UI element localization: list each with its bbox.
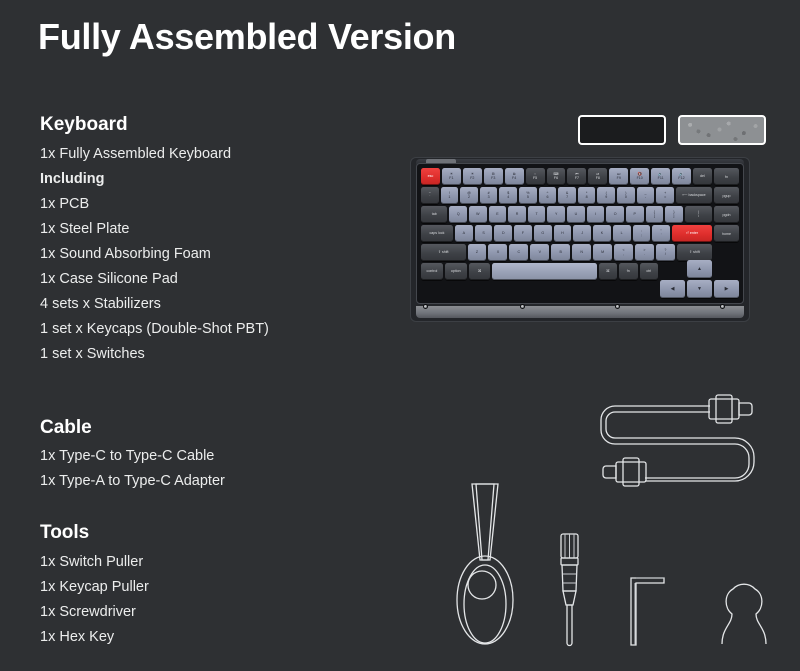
keycap-label: : ; (641, 230, 642, 238)
keycap-label: Y (555, 213, 557, 217)
keycap[interactable]: D (494, 225, 512, 242)
keycap-label: + = (664, 192, 666, 200)
keycap[interactable]: C (509, 244, 528, 261)
keycap[interactable]: _ - (637, 187, 655, 204)
keycap[interactable]: ~ ` (421, 187, 439, 204)
keycap[interactable]: I (587, 206, 605, 223)
keycap[interactable]: : ; (633, 225, 651, 242)
keycap[interactable]: ⧉ F4 (505, 168, 524, 185)
keycap[interactable]: N (572, 244, 591, 261)
keycap[interactable]: M (593, 244, 612, 261)
keycap[interactable]: ⏮ F7 (567, 168, 586, 185)
arrow-down-key[interactable]: ▼ (687, 280, 712, 298)
keycap-label: ⏎ enter (686, 232, 698, 236)
keycap-label: G (541, 232, 544, 236)
keycap-label: E (496, 213, 498, 217)
keycap-label: option (451, 270, 461, 274)
arrow-left-key[interactable]: ◀ (660, 280, 685, 298)
keycap[interactable]: ( 9 (597, 187, 615, 204)
keycap[interactable]: A (455, 225, 473, 242)
spec-item: 1x Type-C to Type-C Cable (40, 444, 370, 469)
keycap-label: U (575, 213, 578, 217)
keycap-label: ⇧ shift (689, 251, 700, 255)
spec-item: 1x Switch Puller (40, 550, 370, 575)
keycap-label: fn (627, 270, 630, 274)
keycap[interactable]: tab (421, 206, 447, 223)
keycap-label: del (700, 175, 705, 179)
keyboard-row-tab: tabQWERTYUIOP{ [} ]| \ (421, 206, 712, 223)
spec-item: 1x Screwdriver (40, 600, 370, 625)
keycap-label: ⇧ shift (438, 251, 449, 255)
spec-item: 1x Hex Key (40, 625, 370, 650)
spec-item: 1 set x Switches (40, 342, 370, 367)
case-screw (423, 304, 428, 309)
keycap-label: S (482, 232, 484, 236)
keycap[interactable]: U (567, 206, 585, 223)
keycap[interactable]: Q (449, 206, 467, 223)
keycap[interactable]: ◌ F5 (526, 168, 545, 185)
keycap[interactable]: ? / (656, 244, 675, 261)
keycap-label: ⏯ F8 (596, 173, 600, 181)
keycap[interactable]: ⇧ shift (677, 244, 712, 261)
side-key[interactable]: fn (714, 168, 739, 185)
keycap-label: H (561, 232, 564, 236)
arrow-right-key[interactable]: ▶ (714, 280, 739, 298)
keycap[interactable]: ⌘ (469, 263, 491, 280)
keycap[interactable]: P (626, 206, 644, 223)
keycap-label: Z (476, 251, 478, 255)
keycap-label: $ 4 (507, 192, 509, 200)
keycap-label: R (516, 213, 519, 217)
keycap-label: O (614, 213, 617, 217)
spec-item: 1 set x Keycaps (Double-Shot PBT) (40, 317, 370, 342)
switch-puller-illustration (457, 484, 513, 644)
keycap[interactable]: ! 1 (441, 187, 459, 204)
case-screw (720, 304, 725, 309)
section-heading-tools: Tools (40, 520, 370, 546)
keycap-label: # 3 (488, 192, 490, 200)
keycap[interactable]: ⌘ (599, 263, 617, 280)
keycap[interactable]: # 3 (480, 187, 498, 204)
spec-item: 1x Steel Plate (40, 217, 370, 242)
keyboard-base-plate (416, 306, 744, 318)
spec-item: 1x Keycap Puller (40, 575, 370, 600)
tools-illustrations (450, 482, 770, 662)
black-swatch (578, 115, 666, 145)
keycap[interactable]: ⟵ backspace (676, 187, 712, 204)
keycap[interactable]: B (551, 244, 570, 261)
spec-sheet-page: Fully Assembled Version Keyboard 1x Full… (0, 0, 800, 671)
keycap[interactable]: J (573, 225, 591, 242)
keycap-grid: esc☀ F1☀ F2⊞ F3⧉ F4◌ F5⌨ F6⏮ F7⏯ F8⏭ F9🔇… (421, 168, 739, 299)
section-heading-keyboard: Keyboard (40, 112, 370, 138)
keycap-label: } ] (673, 211, 674, 219)
side-key[interactable]: home (714, 225, 739, 242)
keycap[interactable]: ctrl (640, 263, 658, 280)
keycap-label: 🔉 F11 (658, 173, 664, 181)
keycap-label: N (580, 251, 583, 255)
keycap[interactable]: ⊞ F3 (484, 168, 503, 185)
keycap-label: > . (643, 249, 645, 257)
keycap-label: ⏭ F9 (617, 173, 621, 181)
keycap-label: ! 1 (448, 192, 450, 200)
keycap-puller-illustration (722, 584, 766, 644)
keycap[interactable]: control (421, 263, 443, 280)
keycap[interactable]: 🔇 F10 (630, 168, 649, 185)
keycap-label: ☀ F1 (449, 173, 453, 181)
keycap-label: { [ (654, 211, 655, 219)
keyboard-row-home: caps lockASDFGHJKL: ;" '⏎ enter (421, 225, 712, 242)
side-key[interactable]: pgup (714, 187, 739, 204)
section-heading-cable: Cable (40, 415, 370, 441)
keycap-label: * 8 (586, 192, 588, 200)
arrow-key-cluster: ▲ ◀ ▼ ▶ (660, 260, 739, 299)
keycap-label: F (522, 232, 524, 236)
keycap[interactable]: Z (468, 244, 487, 261)
keycap[interactable]: W (469, 206, 487, 223)
keycap[interactable]: * 8 (578, 187, 596, 204)
keycap[interactable]: { [ (646, 206, 664, 223)
keycap-label: 🔊 F12 (678, 173, 684, 181)
keycap[interactable]: option (445, 263, 467, 280)
keycap-label: D (502, 232, 505, 236)
keycap[interactable]: F (514, 225, 532, 242)
keycap-label: J (581, 232, 583, 236)
case-screw (520, 304, 525, 309)
keycap[interactable]: & 7 (558, 187, 576, 204)
section-tools: Tools 1x Switch Puller 1x Keycap Puller … (40, 520, 370, 650)
page-title: Fully Assembled Version (38, 16, 456, 58)
keycap[interactable]: S (475, 225, 493, 242)
keycap-label: " ' (661, 230, 662, 238)
keycap[interactable]: V (530, 244, 549, 261)
keyboard-row-bottom: controloption⌘⌘fnctrl (421, 263, 658, 280)
keycap-label: tab (432, 213, 437, 217)
specifications-column: Keyboard 1x Fully Assembled Keyboard Inc… (40, 112, 370, 650)
keycap[interactable]: fn (619, 263, 637, 280)
keycap-label: V (539, 251, 541, 255)
keycap-label: ) 0 (625, 192, 627, 200)
keyboard-row-shift: ⇧ shiftZXCVBNM< ,> .? /⇧ shift (421, 244, 712, 261)
keycap-label: ◌ F5 (533, 173, 537, 181)
color-swatches (578, 115, 766, 145)
keycap[interactable]: 🔉 F11 (651, 168, 670, 185)
keycap-label: ⊞ F3 (491, 173, 495, 181)
keycap[interactable]: X (488, 244, 507, 261)
keycap-label: @ 2 (467, 192, 471, 200)
keycap[interactable]: < , (614, 244, 633, 261)
keycap[interactable]: + = (656, 187, 674, 204)
keycap[interactable]: % 5 (519, 187, 537, 204)
keycap-label: ⌘ (478, 270, 482, 274)
keycap[interactable]: ⏭ F9 (609, 168, 628, 185)
keycap-label: ? / (664, 249, 666, 257)
keycap[interactable]: H (554, 225, 572, 242)
keycap-label: C (518, 251, 521, 255)
keyboard-row-function: esc☀ F1☀ F2⊞ F3⧉ F4◌ F5⌨ F6⏮ F7⏯ F8⏭ F9🔇… (421, 168, 712, 185)
side-key[interactable]: pgdn (714, 206, 739, 223)
keycap[interactable]: @ 2 (460, 187, 478, 204)
keycap[interactable]: ^ 6 (539, 187, 557, 204)
keycap[interactable]: ⇧ shift (421, 244, 466, 261)
keycap-label: caps lock (429, 232, 444, 236)
keycap-label: 🔇 F10 (637, 173, 643, 181)
keycap[interactable]: ⏯ F8 (588, 168, 607, 185)
keycap[interactable]: L (613, 225, 631, 242)
screwdriver-illustration (561, 534, 578, 646)
keycap-label: ⧉ F4 (512, 173, 516, 181)
spec-item: 1x PCB (40, 192, 370, 217)
keycap-label: % 5 (526, 192, 529, 200)
keycap-label: K (601, 232, 603, 236)
keycap-label: Q (457, 213, 460, 217)
keycap-label: ☀ F2 (470, 173, 474, 181)
keycap[interactable]: ) 0 (617, 187, 635, 204)
keycap[interactable]: Y (547, 206, 565, 223)
keycap-label: & 7 (566, 192, 568, 200)
spec-item: 1x Type-A to Type-C Adapter (40, 469, 370, 494)
keycap-label: ( 9 (605, 192, 607, 200)
spec-item-including: Including (40, 167, 370, 192)
keycap[interactable]: $ 4 (499, 187, 517, 204)
usb-c-cable-illustration (585, 392, 770, 487)
keycap-label: ⌨ F6 (553, 173, 558, 181)
keycap[interactable]: 🔊 F12 (672, 168, 691, 185)
keycap-label: T (536, 213, 538, 217)
keycap-label: P (633, 213, 635, 217)
keycap-label: ⌘ (606, 270, 610, 274)
keycap[interactable] (492, 263, 596, 280)
keycap[interactable]: G (534, 225, 552, 242)
keycap-label: W (476, 213, 479, 217)
keycap-label: < , (622, 249, 624, 257)
keycap-label: M (601, 251, 604, 255)
keycap-label: L (621, 232, 623, 236)
spec-item: 1x Sound Absorbing Foam (40, 242, 370, 267)
keycap[interactable]: ⌨ F6 (547, 168, 566, 185)
spec-item: 1x Case Silicone Pad (40, 267, 370, 292)
keycap-label: control (427, 270, 438, 274)
keycap[interactable]: | \ (685, 206, 712, 223)
keyboard-row-number: ~ `! 1@ 2# 3$ 4% 5^ 6& 7* 8( 9) 0_ -+ =⟵… (421, 187, 712, 204)
keycap[interactable]: K (593, 225, 611, 242)
keycap[interactable]: ☀ F1 (442, 168, 461, 185)
keycap-label: _ - (645, 192, 647, 200)
keycap[interactable]: ⏎ enter (672, 225, 712, 242)
keycap-label: esc (428, 175, 434, 179)
keycap-label: X (497, 251, 499, 255)
keycap[interactable]: > . (635, 244, 654, 261)
keycap-label: ⏮ F7 (575, 173, 579, 181)
keycap[interactable]: ☀ F2 (463, 168, 482, 185)
keycap-label: ~ ` (429, 192, 431, 200)
case-screw (615, 304, 620, 309)
section-keyboard: Keyboard 1x Fully Assembled Keyboard Inc… (40, 112, 370, 367)
keycap-label: | \ (698, 211, 699, 219)
gray-swatch (678, 115, 766, 145)
keycap[interactable]: O (606, 206, 624, 223)
spec-item: 1x Fully Assembled Keyboard (40, 142, 370, 167)
keycap[interactable]: " ' (652, 225, 670, 242)
section-cable: Cable 1x Type-C to Type-C Cable 1x Type-… (40, 415, 370, 495)
keycap[interactable]: E (489, 206, 507, 223)
keyboard-illustration: esc☀ F1☀ F2⊞ F3⧉ F4◌ F5⌨ F6⏮ F7⏯ F8⏭ F9🔇… (410, 157, 750, 322)
keycap[interactable]: R (508, 206, 526, 223)
keycap-label: ctrl (646, 270, 651, 274)
keycap-label: A (463, 232, 465, 236)
keycap[interactable]: esc (421, 168, 440, 185)
keycap[interactable]: } ] (665, 206, 683, 223)
keycap-label: B (560, 251, 562, 255)
spec-item: 4 sets x Stabilizers (40, 292, 370, 317)
keycap[interactable]: del (693, 168, 712, 185)
keycap-label: ⟵ backspace (682, 194, 705, 198)
keycap[interactable]: T (528, 206, 546, 223)
arrow-up-key[interactable]: ▲ (687, 260, 712, 278)
keycap-label: ^ 6 (546, 192, 548, 200)
hex-key-illustration (631, 578, 664, 645)
keycap-label: I (595, 213, 596, 217)
keycap[interactable]: caps lock (421, 225, 453, 242)
